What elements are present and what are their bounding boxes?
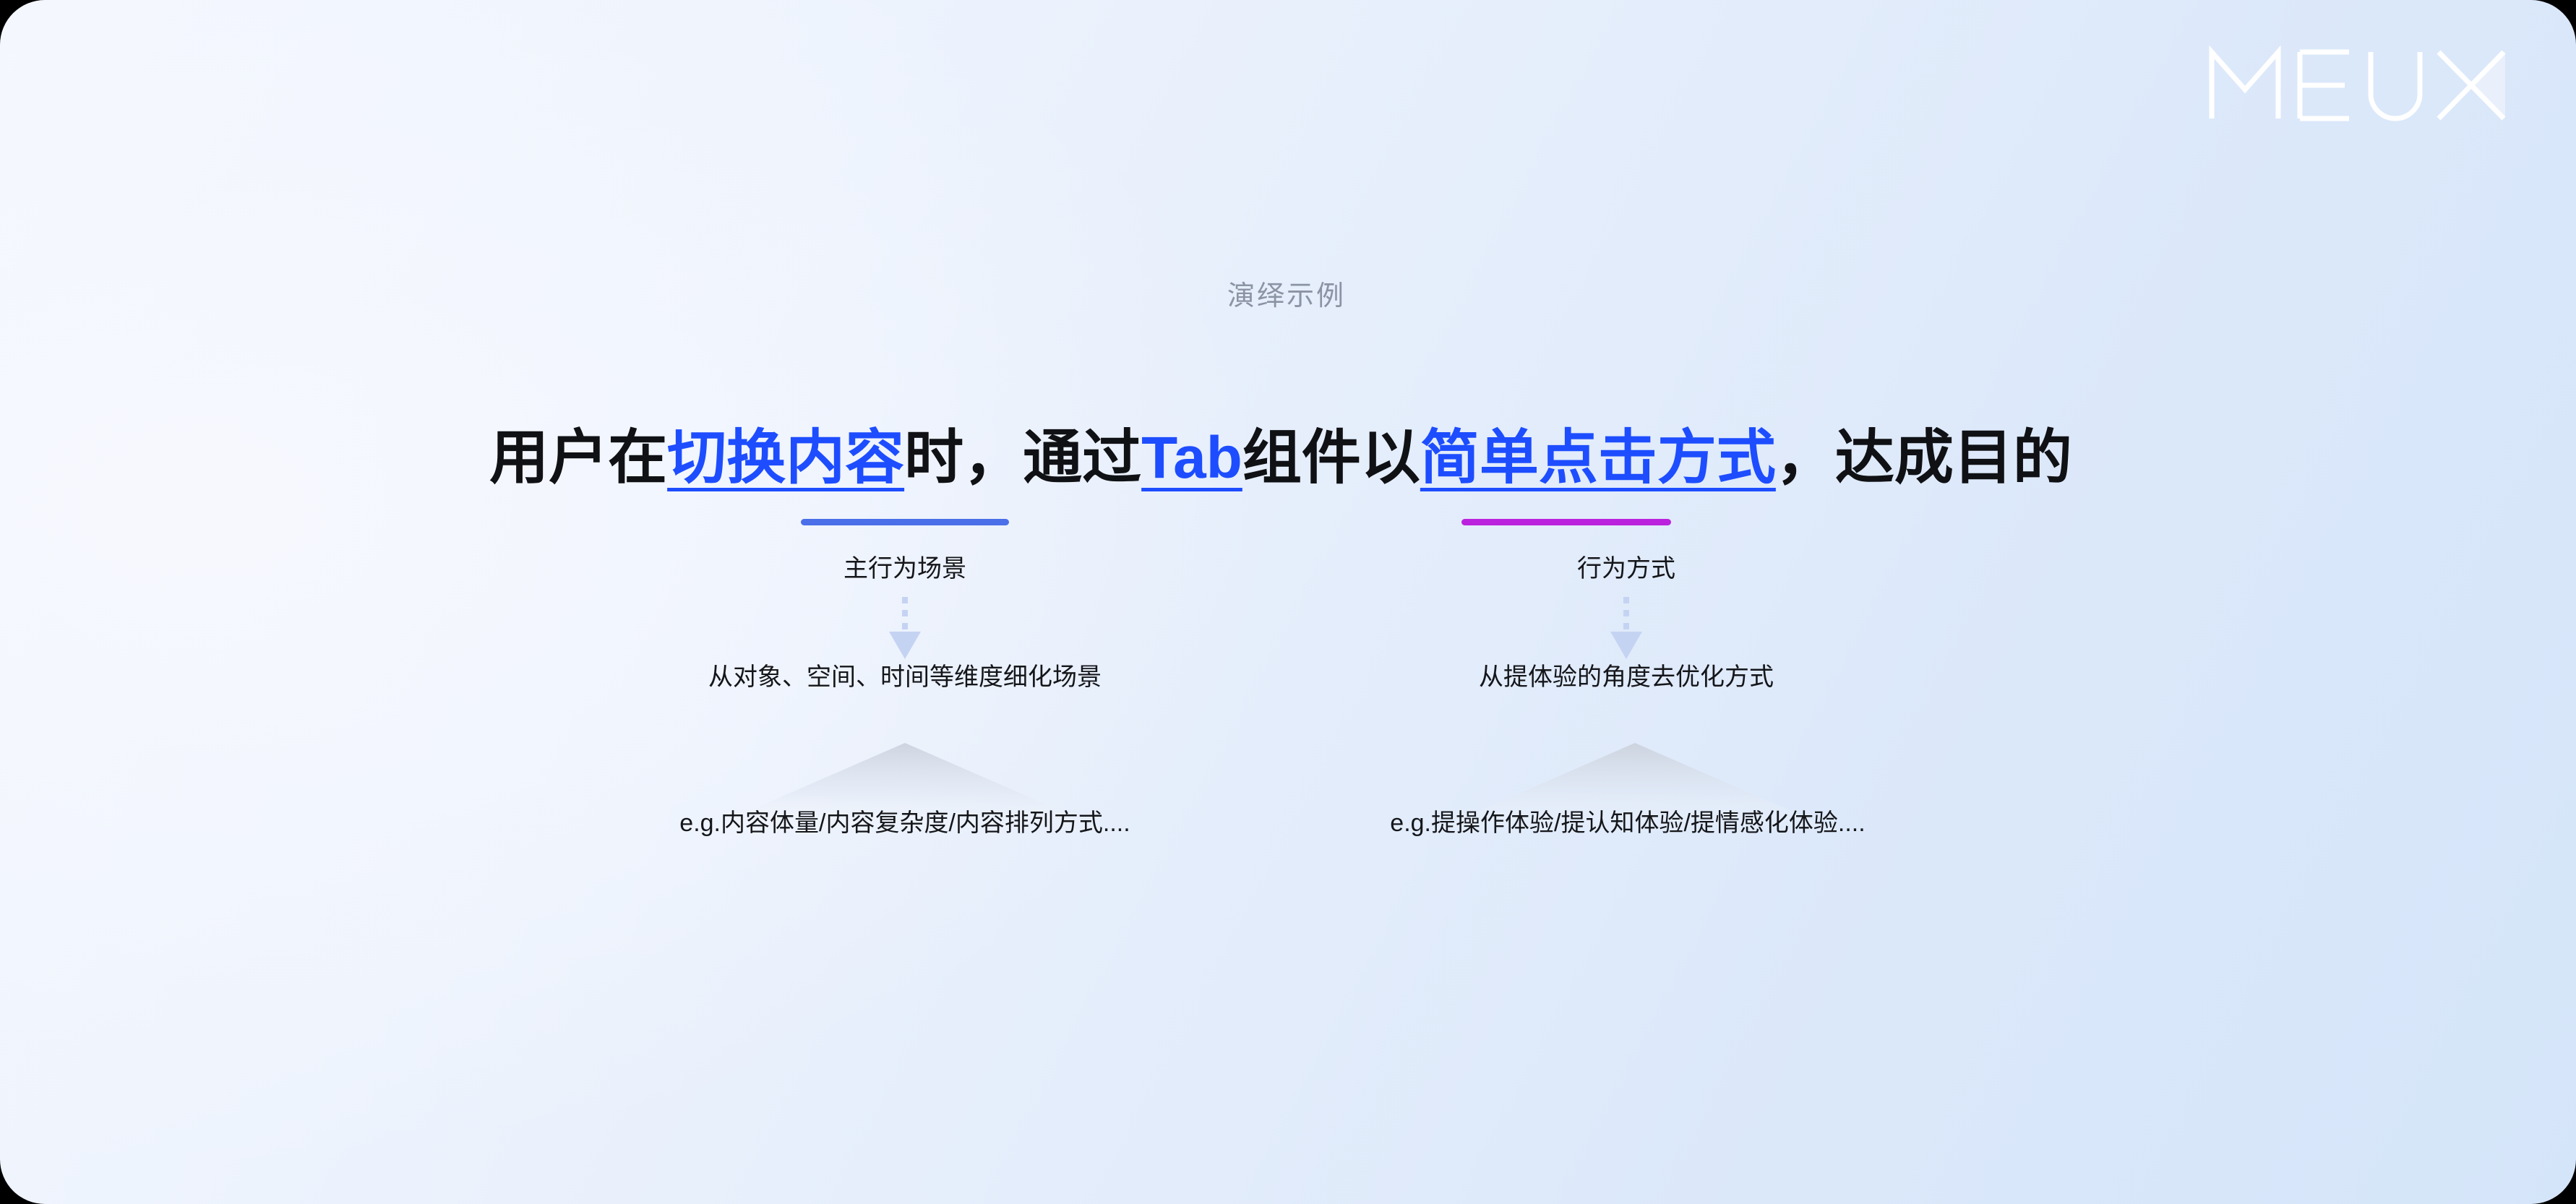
slide-canvas: 演绎示例 用户在切换内容时，通过Tab组件以简单点击方式，达成目的 主行为场景 … — [0, 0, 2576, 1204]
branch-description: 从对象、空间、时间等维度细化场景 — [580, 665, 1230, 689]
dotted-arrow-down-icon — [580, 597, 1230, 659]
meux-logo — [2206, 45, 2510, 124]
marker-bar-method — [1461, 519, 1671, 525]
branch-scene: 主行为场景 从对象、空间、时间等维度细化场景 — [580, 556, 1230, 689]
headline-segment-2: 时，通过 — [904, 425, 1141, 491]
headline-highlight-scene: 切换内容 — [667, 425, 904, 491]
arrow-head — [889, 632, 921, 659]
arrow-dots — [1623, 597, 1629, 633]
branch-method: 行为方式 从提体验的角度去优化方式 — [1301, 556, 1952, 689]
dotted-arrow-down-icon — [1301, 597, 1952, 659]
headline-highlight-tab: Tab — [1141, 425, 1242, 491]
example-text-method: e.g.提操作体验/提认知体验/提情感化体验.... — [1266, 811, 1989, 835]
meux-logo-x — [2439, 52, 2505, 119]
arrow-dots — [902, 597, 908, 633]
headline-segment-1: 用户在 — [489, 425, 667, 491]
example-text-scene: e.g.内容体量/内容复杂度/内容排列方式.... — [544, 811, 1266, 835]
arrow-head — [1610, 632, 1642, 659]
headline-segment-4: ，达成目的 — [1776, 425, 2072, 491]
branch-title: 行为方式 — [1301, 556, 1952, 581]
eyebrow-label: 演绎示例 — [0, 273, 2576, 313]
marker-bar-scene — [801, 519, 1009, 525]
headline-highlight-method: 简单点击方式 — [1420, 425, 1776, 491]
headline-segment-3: 组件以 — [1242, 425, 1420, 491]
branch-title: 主行为场景 — [580, 556, 1230, 581]
branch-description: 从提体验的角度去优化方式 — [1301, 665, 1952, 689]
page-title: 用户在切换内容时，通过Tab组件以简单点击方式，达成目的 — [0, 425, 2576, 491]
eyebrow-text: 演绎示例 — [1227, 273, 1346, 313]
